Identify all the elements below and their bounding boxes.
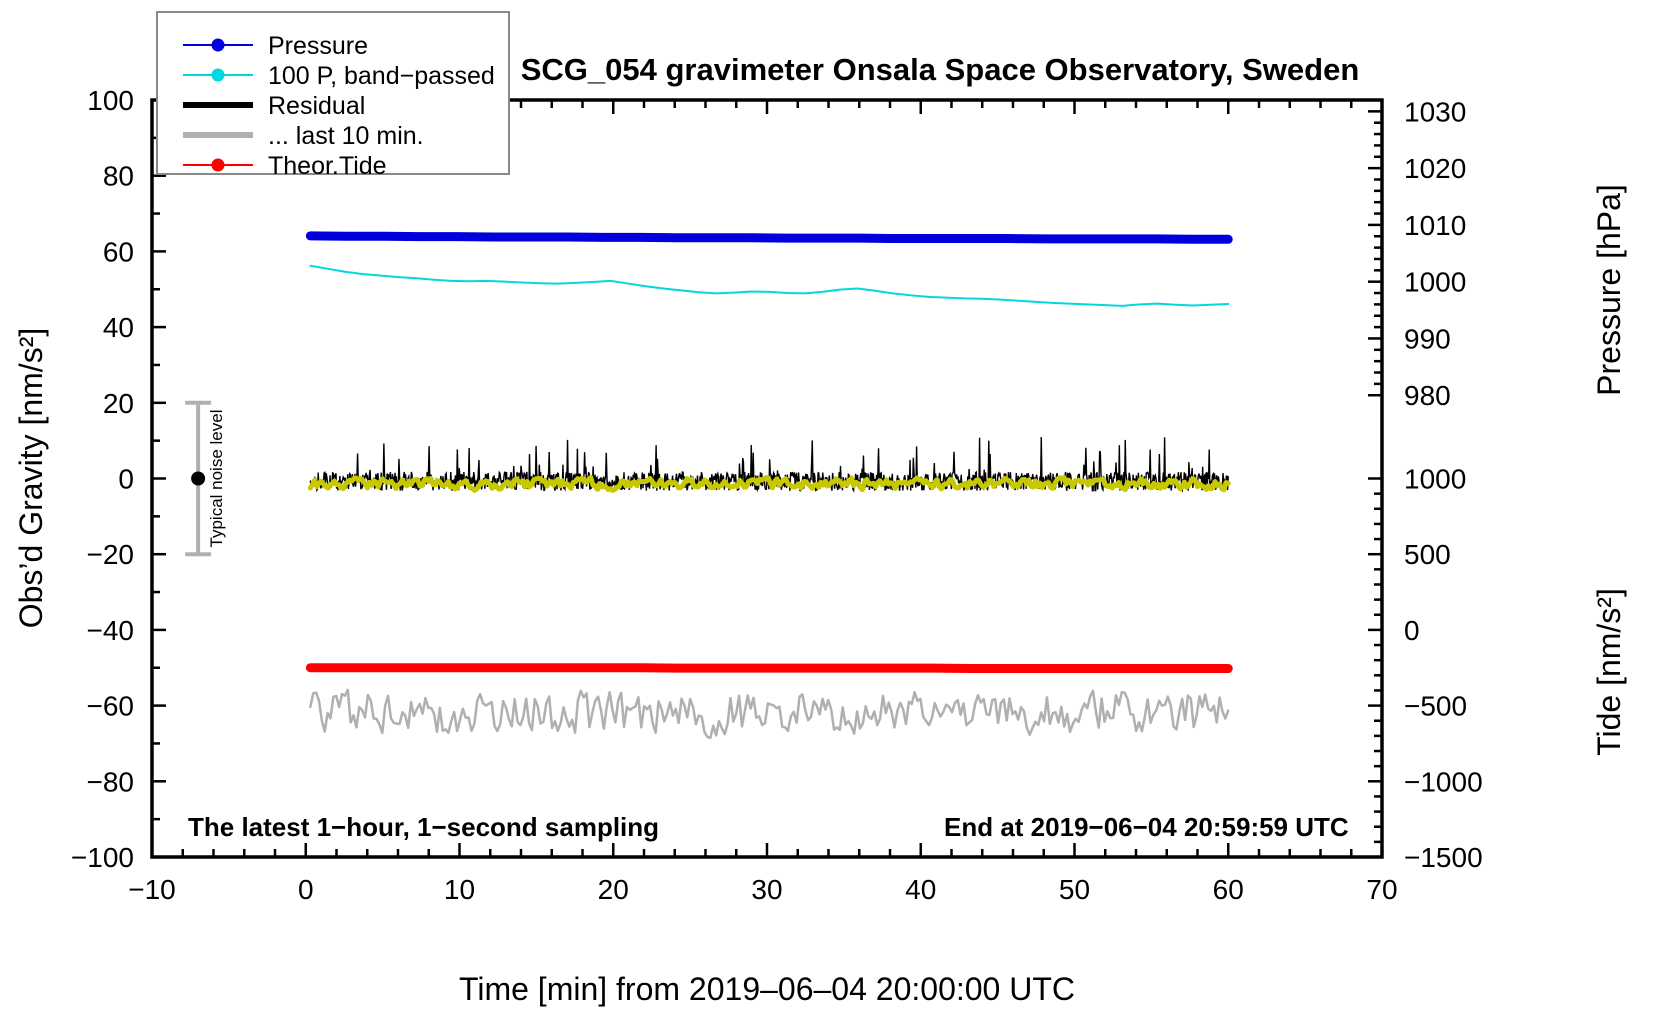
- y-axis-label-tide: Tide [nm/s²]: [1591, 588, 1627, 756]
- y-tick-label: −100: [71, 842, 134, 873]
- right-tick-label: −1500: [1404, 842, 1483, 873]
- right-tick-label: 1030: [1404, 96, 1466, 127]
- y-axis-label-pressure: Pressure [hPa]: [1591, 184, 1627, 396]
- y-tick-label: 60: [103, 236, 134, 267]
- x-tick-label: 30: [751, 874, 782, 905]
- legend-label: 100 P, band−passed: [268, 62, 495, 90]
- right-tick-label: −500: [1404, 691, 1467, 722]
- y-tick-label: 40: [103, 312, 134, 343]
- y-tick-label: 80: [103, 161, 134, 192]
- right-tick-label: 1020: [1404, 153, 1466, 184]
- x-tick-label: 40: [905, 874, 936, 905]
- legend-marker-dot: [212, 39, 225, 52]
- y-tick-label: −60: [87, 691, 135, 722]
- chart-canvas: Typical noise level −10010203040506070−1…: [0, 0, 1660, 1020]
- legend-label: Pressure: [268, 32, 368, 60]
- x-axis-label: Time [min] from 2019–06–04 20:00:00 UTC: [459, 971, 1075, 1007]
- x-tick-label: −10: [128, 874, 176, 905]
- legend[interactable]: Pressure100 P, band−passedResidual... la…: [157, 12, 509, 180]
- y-tick-label: −20: [87, 539, 135, 570]
- right-tick-label: 1000: [1404, 464, 1466, 495]
- right-tick-label: −1000: [1404, 766, 1483, 797]
- right-tick-label: 500: [1404, 539, 1451, 570]
- legend-label: Residual: [268, 92, 365, 120]
- x-tick-label: 70: [1366, 874, 1397, 905]
- y-tick-label: −40: [87, 615, 135, 646]
- legend-label: ... last 10 min.: [268, 122, 424, 150]
- right-tick-label: 990: [1404, 323, 1451, 354]
- right-tick-label: 980: [1404, 380, 1451, 411]
- y-tick-label: 100: [87, 85, 134, 116]
- x-tick-label: 50: [1059, 874, 1090, 905]
- chart-title: SCG_054 gravimeter Onsala Space Observat…: [521, 52, 1360, 87]
- y-tick-label: −80: [87, 766, 135, 797]
- sampling-note: The latest 1−hour, 1−second sampling: [188, 812, 659, 842]
- y-tick-label: 0: [118, 464, 134, 495]
- y-axis-label-left: Obs’d Gravity [nm/s²]: [13, 328, 49, 629]
- right-tick-label: 0: [1404, 615, 1420, 646]
- gravimeter-plot: Typical noise level −10010203040506070−1…: [0, 0, 1660, 1020]
- x-tick-label: 20: [598, 874, 629, 905]
- right-tick-label: 1000: [1404, 267, 1466, 298]
- legend-marker-dot: [212, 159, 225, 172]
- legend-label: Theor.Tide: [268, 152, 387, 180]
- right-tick-label: 1010: [1404, 210, 1466, 241]
- legend-marker-dot: [212, 69, 225, 82]
- x-tick-label: 60: [1213, 874, 1244, 905]
- series-theor-tide: [310, 668, 1228, 669]
- typical-noise-label: Typical noise level: [207, 410, 226, 548]
- series-pressure: [310, 236, 1228, 239]
- x-tick-label: 10: [444, 874, 475, 905]
- end-time-note: End at 2019−06−04 20:59:59 UTC: [944, 812, 1349, 842]
- x-tick-label: 0: [298, 874, 314, 905]
- y-tick-label: 20: [103, 388, 134, 419]
